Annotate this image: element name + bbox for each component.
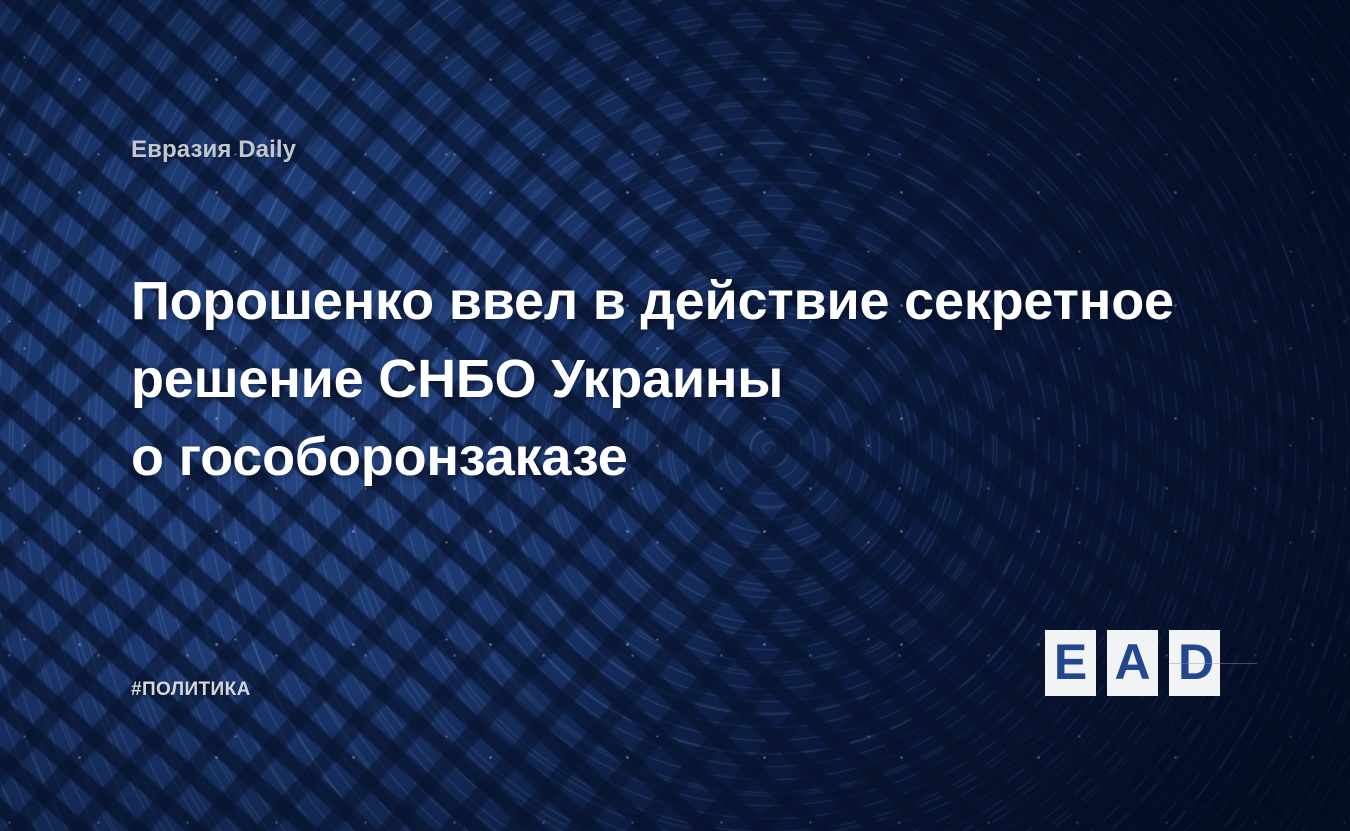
news-card: Евразия Daily Порошенко ввел в действие … [0,0,1350,831]
card-content: Евразия Daily Порошенко ввел в действие … [0,0,1350,831]
logo-seam-line [1169,663,1257,664]
headline-line-3: о гособоронзаказе [131,418,1221,496]
headline-line-1: Порошенко ввел в действие секретное [131,262,1221,340]
headline: Порошенко ввел в действие секретное реше… [131,262,1221,496]
logo-tile-a: A [1107,630,1158,696]
logo-letter-d: D [1178,637,1214,687]
category-hashtag[interactable]: #ПОЛИТИКА [131,679,251,701]
logo-letter-a: A [1114,637,1150,687]
eadaily-logo[interactable]: E A D D [1045,630,1220,696]
logo-tile-d: D D [1169,630,1220,696]
logo-tile-e: E [1045,630,1096,696]
publisher-name: Евразия Daily [131,136,296,164]
logo-letter-e: E [1054,637,1087,687]
headline-line-2: решение СНБО Украины [131,340,1221,418]
